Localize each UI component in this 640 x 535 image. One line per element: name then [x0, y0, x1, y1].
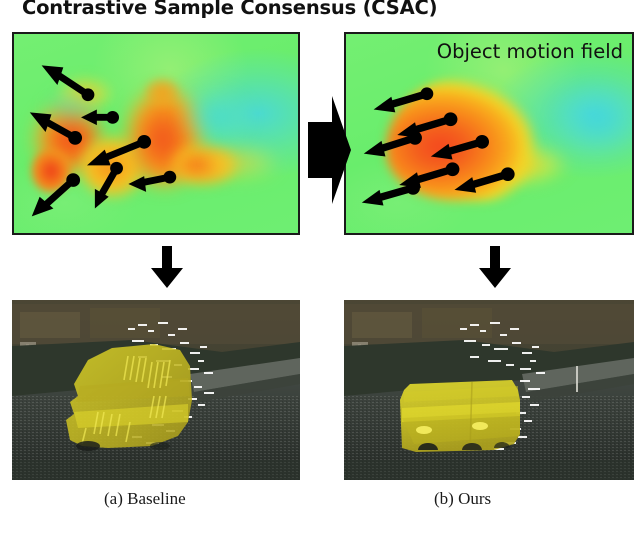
- csac-reconstruction-image: [344, 300, 634, 480]
- flow-blob: [31, 149, 71, 193]
- down-arrow-left-icon: [150, 246, 184, 288]
- flow-cool-blob: [558, 86, 634, 154]
- caption-ours: (b) Ours: [434, 489, 491, 509]
- figure-root: Contrastive Sample Consensus (CSAC): [0, 0, 640, 535]
- flow-cool-blob: [184, 94, 246, 142]
- object-motion-blob: [386, 78, 546, 201]
- object-motion-field-panel: Object motion field: [344, 32, 634, 235]
- caption-baseline: (a) Baseline: [104, 489, 186, 509]
- down-arrow-right-icon: [478, 246, 512, 288]
- page-title: Contrastive Sample Consensus (CSAC): [22, 0, 437, 19]
- baseline-motion-field-panel: [12, 32, 300, 235]
- transition-arrow-right-icon: [306, 96, 352, 204]
- flow-blob: [145, 78, 179, 106]
- object-motion-field-label: Object motion field: [437, 40, 623, 63]
- baseline-reconstruction-image: [12, 300, 300, 480]
- flow-cool-blob: [48, 94, 93, 122]
